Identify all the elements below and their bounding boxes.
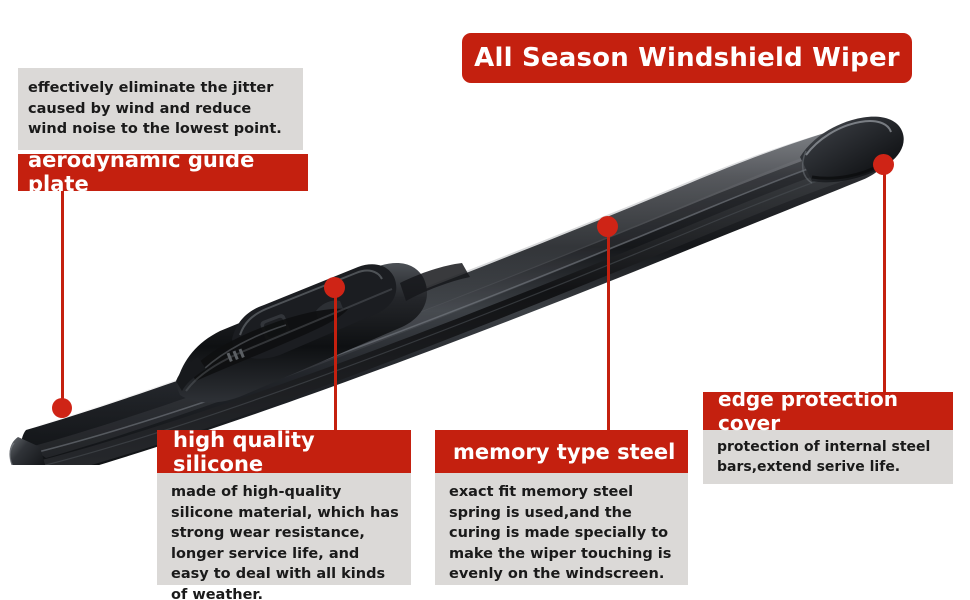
- callout-description-memory-type-steel: exact fit memory steel spring is used,an…: [435, 473, 688, 585]
- callout-edge-protection-cover: edge protection cover protection of inte…: [703, 392, 953, 484]
- marker-dot-edge-protection-cover: [873, 154, 894, 175]
- leader-line-aerodynamic-guide-plate: [61, 186, 64, 410]
- callout-high-quality-silicone: high quality silicone made of high-quali…: [157, 430, 411, 585]
- callout-heading-aerodynamic-guide-plate: aerodynamic guide plate: [18, 154, 308, 191]
- callout-description-high-quality-silicone: made of high-quality silicone material, …: [157, 473, 411, 585]
- leader-line-high-quality-silicone: [334, 297, 337, 431]
- callout-description-edge-protection-cover: protection of internal steel bars,extend…: [703, 430, 953, 484]
- leader-line-memory-type-steel: [607, 236, 610, 431]
- page-title: All Season Windshield Wiper: [474, 43, 900, 73]
- callout-heading-high-quality-silicone: high quality silicone: [157, 430, 411, 473]
- marker-dot-high-quality-silicone: [324, 277, 345, 298]
- marker-dot-aerodynamic-guide-plate: [52, 398, 72, 418]
- callout-memory-type-steel: memory type steel exact fit memory steel…: [435, 430, 688, 585]
- product-title-banner: All Season Windshield Wiper: [462, 33, 912, 83]
- leader-line-edge-protection-cover: [883, 174, 886, 393]
- callout-heading-edge-protection-cover: edge protection cover: [703, 392, 953, 430]
- marker-dot-memory-type-steel: [597, 216, 618, 237]
- callout-aerodynamic-guide-plate: effectively eliminate the jitter caused …: [18, 68, 308, 191]
- callout-description-aerodynamic-guide-plate: effectively eliminate the jitter caused …: [18, 68, 303, 150]
- product-infographic: All Season Windshield Wiper effectively …: [0, 0, 970, 600]
- callout-heading-memory-type-steel: memory type steel: [435, 430, 688, 473]
